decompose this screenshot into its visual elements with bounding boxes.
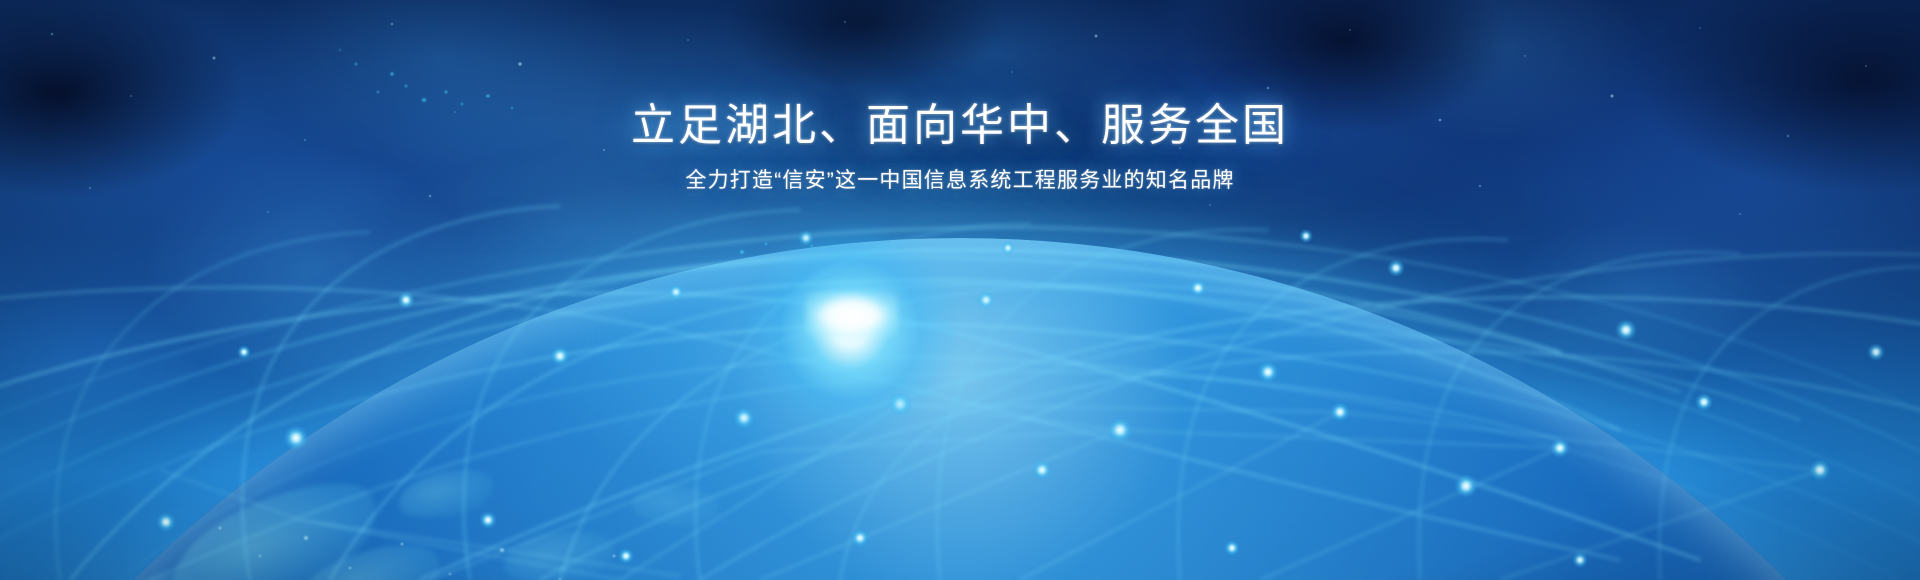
hero-banner: 立足湖北、面向华中、服务全国 全力打造“信安”这一中国信息系统工程服务业的知名品…	[0, 0, 1920, 580]
banner-subheadline: 全力打造“信安”这一中国信息系统工程服务业的知名品牌	[0, 170, 1920, 191]
banner-headline: 立足湖北、面向华中、服务全国	[0, 104, 1920, 148]
network-mesh	[0, 0, 1920, 580]
banner-text-block: 立足湖北、面向华中、服务全国 全力打造“信安”这一中国信息系统工程服务业的知名品…	[0, 104, 1920, 191]
